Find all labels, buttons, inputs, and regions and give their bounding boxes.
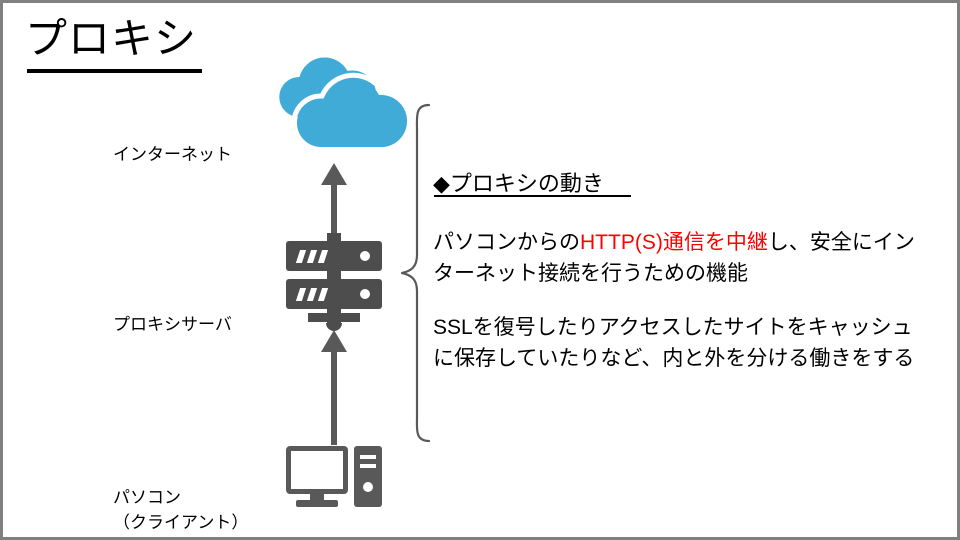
paragraph-1-before: パソコンからの [433,231,580,254]
page-title-underline [27,69,202,73]
label-pc-client: パソコン （クライアント） [113,486,248,535]
label-pc-line2: （クライアント） [113,511,248,536]
label-internet: インターネット [113,143,232,168]
page-title: プロキシ [25,15,197,63]
label-pc-line1: パソコン [113,486,248,511]
computer-icon [286,446,382,508]
cloud-icon [265,51,415,151]
arrow-pc-to-proxy-icon [321,330,347,445]
label-proxy-server: プロキシサーバ [113,313,232,338]
explanation-paragraph-2: SSLを復号したりアクセスしたサイトをキャッシュに保存していたりなど、内と外を分… [433,312,933,374]
slide-canvas: プロキシ [0,0,960,540]
paragraph-1-highlight: HTTP(S)通信を中継 [580,231,768,254]
explanation-paragraph-1: パソコンからのHTTP(S)通信を中継し、安全にインターネット接続を行うための機… [433,227,933,289]
explanation-heading: ◆プロキシの動き [433,166,604,198]
arrow-proxy-to-internet-icon [321,163,347,243]
curly-brace-icon [399,103,433,443]
explanation-heading-underline [434,195,631,197]
server-icon [286,239,382,331]
